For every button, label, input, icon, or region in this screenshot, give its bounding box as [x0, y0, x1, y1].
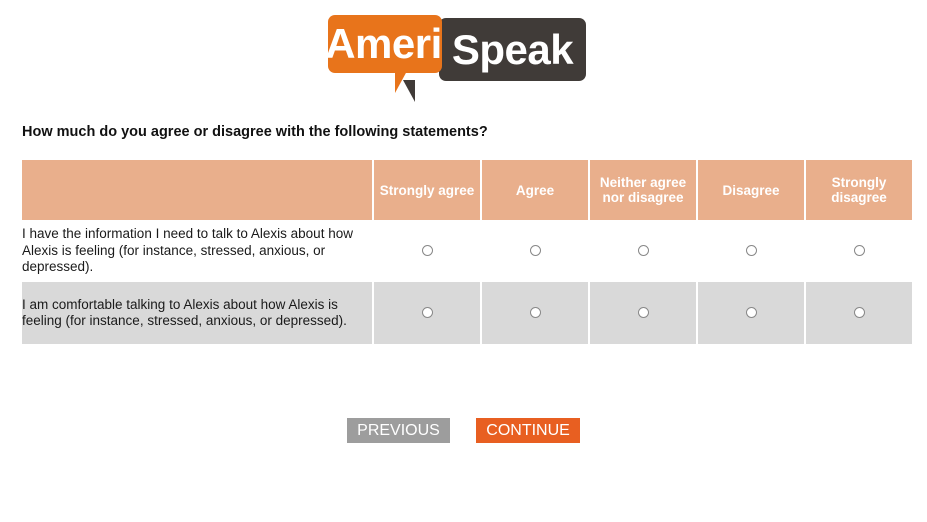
matrix-body: I have the information I need to talk to…: [22, 220, 912, 344]
logo-ameri-text: Ameri: [325, 23, 445, 65]
navigation-button-bar: PREVIOUS CONTINUE: [0, 418, 927, 443]
radio-cell-row1-strongly-disagree[interactable]: [805, 220, 912, 282]
column-header-strongly-agree: Strongly agree: [373, 160, 481, 220]
radio-cell-row2-disagree[interactable]: [697, 282, 805, 344]
radio-cell-row1-neither[interactable]: [589, 220, 697, 282]
previous-button[interactable]: PREVIOUS: [347, 418, 450, 443]
radio-row2-agree[interactable]: [530, 307, 541, 318]
radio-row1-agree[interactable]: [530, 245, 541, 256]
radio-row1-disagree[interactable]: [746, 245, 757, 256]
column-header-agree: Agree: [481, 160, 589, 220]
radio-row1-neither[interactable]: [638, 245, 649, 256]
agreement-matrix-table: Strongly agree Agree Neither agree nor d…: [22, 160, 912, 344]
radio-cell-row1-agree[interactable]: [481, 220, 589, 282]
table-row: I am comfortable talking to Alexis about…: [22, 282, 912, 344]
radio-cell-row2-strongly-agree[interactable]: [373, 282, 481, 344]
continue-button[interactable]: CONTINUE: [476, 418, 580, 443]
amerispeak-logo: Ameri Speak: [327, 12, 589, 98]
radio-cell-row2-neither[interactable]: [589, 282, 697, 344]
radio-row2-strongly-agree[interactable]: [422, 307, 433, 318]
radio-row1-strongly-disagree[interactable]: [854, 245, 865, 256]
question-prompt: How much do you agree or disagree with t…: [22, 124, 488, 140]
statement-label-2: I am comfortable talking to Alexis about…: [22, 282, 373, 344]
matrix-header-row: Strongly agree Agree Neither agree nor d…: [22, 160, 912, 220]
statement-label-1: I have the information I need to talk to…: [22, 220, 373, 282]
radio-row2-disagree[interactable]: [746, 307, 757, 318]
column-header-disagree: Disagree: [697, 160, 805, 220]
radio-cell-row1-strongly-agree[interactable]: [373, 220, 481, 282]
table-row: I have the information I need to talk to…: [22, 220, 912, 282]
logo-speak-text: Speak: [452, 29, 573, 71]
logo-ameri-tail-icon: [395, 71, 425, 93]
matrix-header: Strongly agree Agree Neither agree nor d…: [22, 160, 912, 220]
radio-cell-row2-agree[interactable]: [481, 282, 589, 344]
logo-speak-bubble: Speak: [439, 18, 586, 81]
radio-row2-neither[interactable]: [638, 307, 649, 318]
radio-row1-strongly-agree[interactable]: [422, 245, 433, 256]
column-header-neither: Neither agree nor disagree: [589, 160, 697, 220]
statement-column-header: [22, 160, 373, 220]
radio-cell-row2-strongly-disagree[interactable]: [805, 282, 912, 344]
column-header-strongly-disagree: Strongly disagree: [805, 160, 912, 220]
logo-ameri-bubble: Ameri: [328, 15, 442, 73]
logo-header: Ameri Speak: [0, 0, 927, 108]
radio-cell-row1-disagree[interactable]: [697, 220, 805, 282]
radio-row2-strongly-disagree[interactable]: [854, 307, 865, 318]
